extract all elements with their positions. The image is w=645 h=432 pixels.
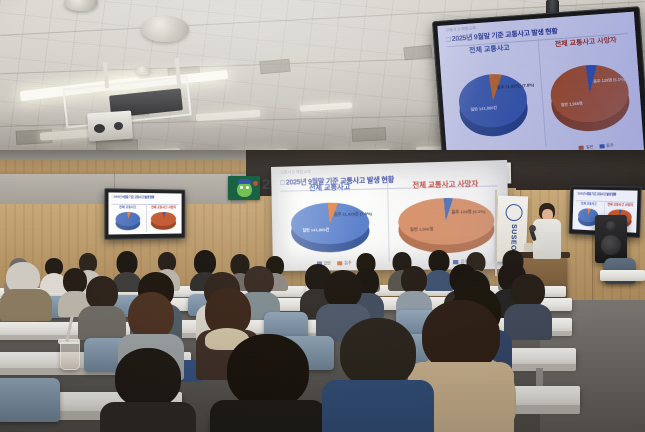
side-desk: [600, 270, 645, 281]
chart-panel-right: 전체 교통사고 사망자 음주 128명 (6.1%) 일반 1,966명 일반음…: [539, 34, 640, 155]
person-head: [227, 334, 309, 408]
ceiling-mounted-tv[interactable]: 교통사고 예방교육 □ 2025년 9월말 기준 교통사고 발생 현황 전체 교…: [432, 6, 645, 173]
person-head: [128, 292, 174, 340]
mascot-eye-icon: [246, 186, 249, 189]
floor-speaker-cabinet: [595, 215, 627, 263]
pie-chart-right: 음주 128명 (6.1%) 일반 1,966명: [549, 62, 631, 125]
presenter: [532, 203, 562, 265]
microphone-head-icon: [529, 225, 536, 232]
flag-text: SUSEO: [509, 224, 517, 251]
legend-swatch-blue: [599, 144, 604, 148]
chart-panel-left: 전체 교통사고 음주 11,928건 (7.8%) 일반 141,860건 일반…: [443, 41, 544, 162]
pie-chart-right: 음주 128명 (6.1%) 일반 1,966명: [398, 197, 494, 245]
iced-coffee-cup: [60, 342, 80, 370]
safety-mascot-poster: [228, 176, 260, 200]
chart-heading-right: 전체 교통사고 사망자: [539, 34, 632, 51]
person-head: [511, 274, 545, 308]
person-head: [115, 348, 181, 408]
monitor-glare: [108, 192, 181, 234]
person-head: [86, 276, 118, 310]
cup-lid: [58, 339, 80, 344]
slide-content-tv: 교통사고 예방교육 □ 2025년 9월말 기준 교통사고 발생 현황 전체 교…: [437, 12, 644, 166]
mascot-cap-icon: [238, 179, 251, 184]
flag-emblem-icon: [505, 204, 523, 222]
pie-chart-left: 음주 11,928건 (7.8%) 일반 141,860건: [291, 202, 370, 245]
tv-screen: 교통사고 예방교육 □ 2025년 9월말 기준 교통사고 발생 현황 전체 교…: [437, 12, 644, 166]
audience-member-gray-hair: [0, 262, 52, 318]
chair[interactable]: [0, 378, 60, 422]
speaker-driver-icon: [601, 235, 621, 255]
legend-label: 음주: [606, 142, 614, 148]
person-head: [324, 270, 362, 308]
chart-heading-left: 전체 교통사고: [276, 181, 385, 194]
person-head: [340, 318, 416, 388]
pie-slice-label-major: 일반 141,860건: [302, 228, 329, 233]
mascot-eye-icon: [240, 186, 243, 189]
pie-slice-label-minor: 음주 128명 (6.1%): [451, 210, 485, 215]
audience-member-front-left: [100, 348, 196, 432]
chart-heading-left: 전체 교통사고: [443, 41, 536, 58]
person-head: [401, 266, 427, 294]
person-torso: [0, 289, 52, 321]
mascot-character-icon: [237, 182, 252, 197]
legend-label: 일반: [586, 144, 594, 150]
legend-swatch-orange: [337, 261, 342, 265]
audience-member-front-dark: [210, 334, 326, 432]
left-wall-monitor[interactable]: □ 2025년 9월말 기준 교통사고 발생 현황 전체 교통사고 전체 교통사…: [104, 188, 185, 239]
audience-member-front-blue-vest: [322, 318, 434, 432]
acoustic-wall-panel: [0, 172, 116, 208]
poster-badge-icon: [253, 181, 258, 186]
speaker-tweeter-icon: [606, 221, 616, 231]
chart-heading-right: 전체 교통사고 사망자: [389, 177, 503, 190]
left-monitor-screen: □ 2025년 9월말 기준 교통사고 발생 현황 전체 교통사고 전체 교통사…: [108, 192, 181, 234]
person-torso: [322, 380, 434, 432]
pie-slice-label-major: 일반 1,966명: [410, 227, 433, 232]
person-torso: [210, 400, 326, 432]
seminar-room-photo: 교통사고 예방교육 □ 2025년 9월말 기준 교통사고 발생 현황 전체 교…: [0, 0, 645, 432]
pie-slice-label-minor: 음주 11,928건 (7.8%): [334, 212, 372, 217]
pie-chart-left: 음주 11,928건 (7.8%) 일반 141,860건: [457, 72, 529, 130]
legend-label: 음주: [344, 260, 352, 265]
person-torso: [100, 402, 196, 432]
